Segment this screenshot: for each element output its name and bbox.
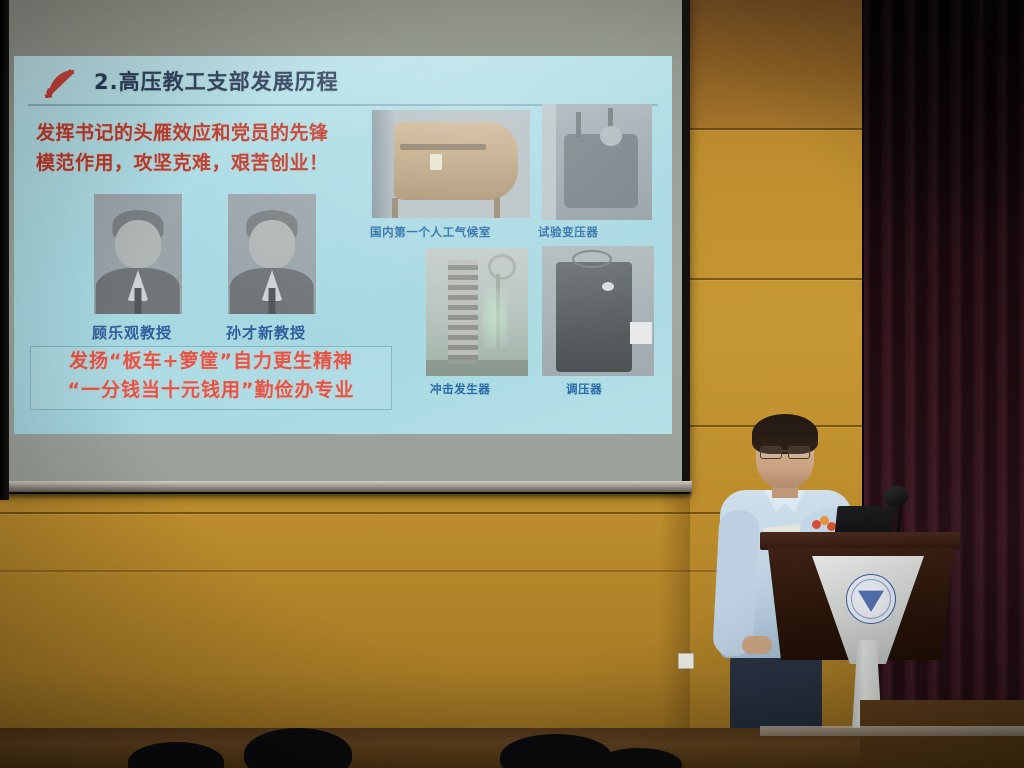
- screen-left-frame: [0, 0, 9, 500]
- party-hammer-sickle-icon: [40, 64, 80, 98]
- portrait-photo: [94, 194, 182, 314]
- portrait-caption: 孙才新教授: [226, 322, 306, 343]
- photo-caption: 调压器: [566, 381, 602, 397]
- equipment-photo-impulse-generator: [426, 248, 528, 376]
- screen-bottom-bar: [0, 481, 692, 492]
- speaker-left-arm: [712, 509, 760, 657]
- slide-body-line: 发挥书记的头雁效应和党员的先锋: [36, 118, 396, 148]
- slogan-line: “一分钱当十元钱用”勤俭办专业: [31, 376, 391, 405]
- slide-body-text: 发挥书记的头雁效应和党员的先锋 模范作用，攻坚克难，艰苦创业！: [36, 118, 396, 178]
- speaker-left-hand: [742, 636, 772, 654]
- equipment-photo-climate-chamber: [372, 110, 530, 218]
- equipment-photo-test-transformer: [542, 104, 652, 220]
- podium-top-surface: [760, 532, 960, 550]
- slogan-line: 发扬“板车+箩筐”自力更生精神: [31, 347, 391, 376]
- portrait-caption: 顾乐观教授: [92, 322, 172, 343]
- slide-title: 2.高压教工支部发展历程: [94, 66, 339, 96]
- photo-caption: 国内第一个人工气候室: [370, 224, 491, 240]
- photo-caption: 冲击发生器: [430, 381, 491, 397]
- slide-title-row: 2.高压教工支部发展历程: [40, 64, 339, 98]
- wall-power-outlet[interactable]: [678, 653, 694, 669]
- portrait-photo: [228, 194, 316, 314]
- equipment-photo-voltage-regulator: [542, 246, 654, 376]
- auditorium-scene: 2.高压教工支部发展历程 发挥书记的头雁效应和党员的先锋 模范作用，攻坚克难，艰…: [0, 0, 1024, 768]
- curtain-top-shadow: [864, 0, 1024, 230]
- slide-body-line: 模范作用，攻坚克难，艰苦创业！: [36, 148, 396, 178]
- projected-slide: 2.高压教工支部发展历程 发挥书记的头雁效应和党员的先锋 模范作用，攻坚克难，艰…: [14, 56, 672, 434]
- stage-edge-strip: [760, 726, 1024, 736]
- glasses-icon: [760, 446, 810, 458]
- photo-caption: 试验变压器: [538, 224, 599, 240]
- university-seal-emblem-icon: [846, 574, 896, 624]
- slide-slogan-box: 发扬“板车+箩筐”自力更生精神 “一分钱当十元钱用”勤俭办专业: [30, 346, 392, 410]
- screen-bar-shadow: [0, 492, 692, 499]
